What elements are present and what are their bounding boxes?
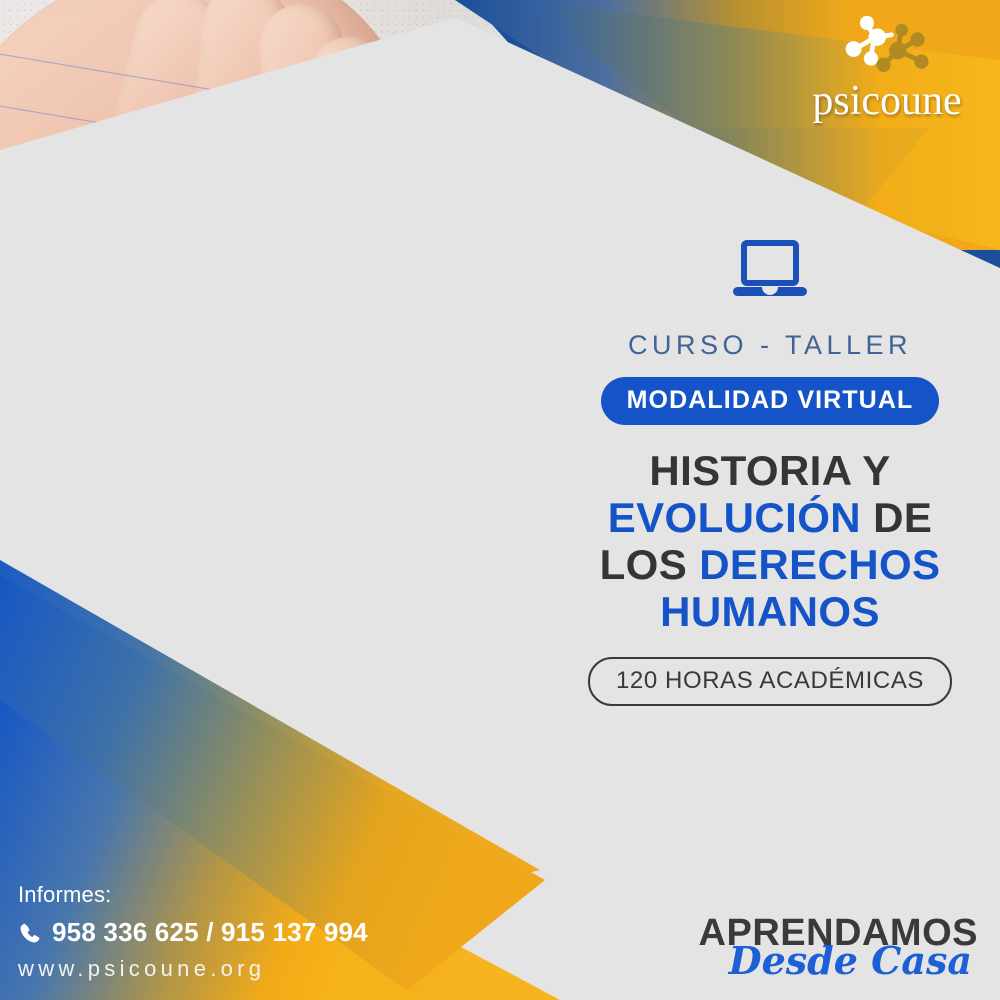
contact-phones-row[interactable]: 958 336 625 / 915 137 994: [18, 917, 368, 948]
contact-block: Informes: 958 336 625 / 915 137 994 www.…: [18, 882, 368, 982]
title-part: HISTORIA Y: [649, 447, 890, 494]
title-part: DE: [861, 494, 932, 541]
contact-website[interactable]: www.psicoune.org: [18, 956, 368, 982]
contact-label: Informes:: [18, 882, 368, 908]
logo-wordmark: psicoune: [792, 80, 982, 122]
content-column: CURSO - TALLER MODALIDAD VIRTUAL HISTORI…: [560, 240, 980, 706]
tagline-line-2: Desde Casa: [699, 942, 972, 980]
photo-skin-redness: [230, 560, 410, 670]
tagline-block: APRENDAMOS Desde Casa: [699, 914, 978, 980]
title-part: HUMANOS: [660, 588, 880, 635]
hands-photo: [0, 0, 512, 800]
brand-logo[interactable]: psicoune: [792, 14, 982, 124]
molecule-network-icon: [822, 14, 972, 84]
phone-icon: [18, 921, 42, 945]
promo-poster: psicoune CURSO - TALLER MODALIDAD VIRTUA…: [0, 0, 1000, 1000]
title-line: HISTORIA Y: [560, 447, 980, 494]
academic-hours-pill: 120 HORAS ACADÉMICAS: [588, 657, 952, 706]
title-part: LOS: [600, 541, 700, 588]
contact-phone-numbers: 958 336 625 / 915 137 994: [52, 917, 368, 948]
title-part: DERECHOS: [699, 541, 940, 588]
title-line: HUMANOS: [560, 588, 980, 635]
photo-edge-fade: [442, 0, 512, 800]
laptop-icon: [728, 240, 812, 304]
title-part: EVOLUCIÓN: [608, 494, 861, 541]
course-kicker: CURSO - TALLER: [560, 330, 980, 361]
modality-badge: MODALIDAD VIRTUAL: [601, 377, 940, 425]
title-line: EVOLUCIÓN DE: [560, 494, 980, 541]
course-title: HISTORIA Y EVOLUCIÓN DE LOS DERECHOS HUM…: [560, 447, 980, 635]
title-line: LOS DERECHOS: [560, 541, 980, 588]
